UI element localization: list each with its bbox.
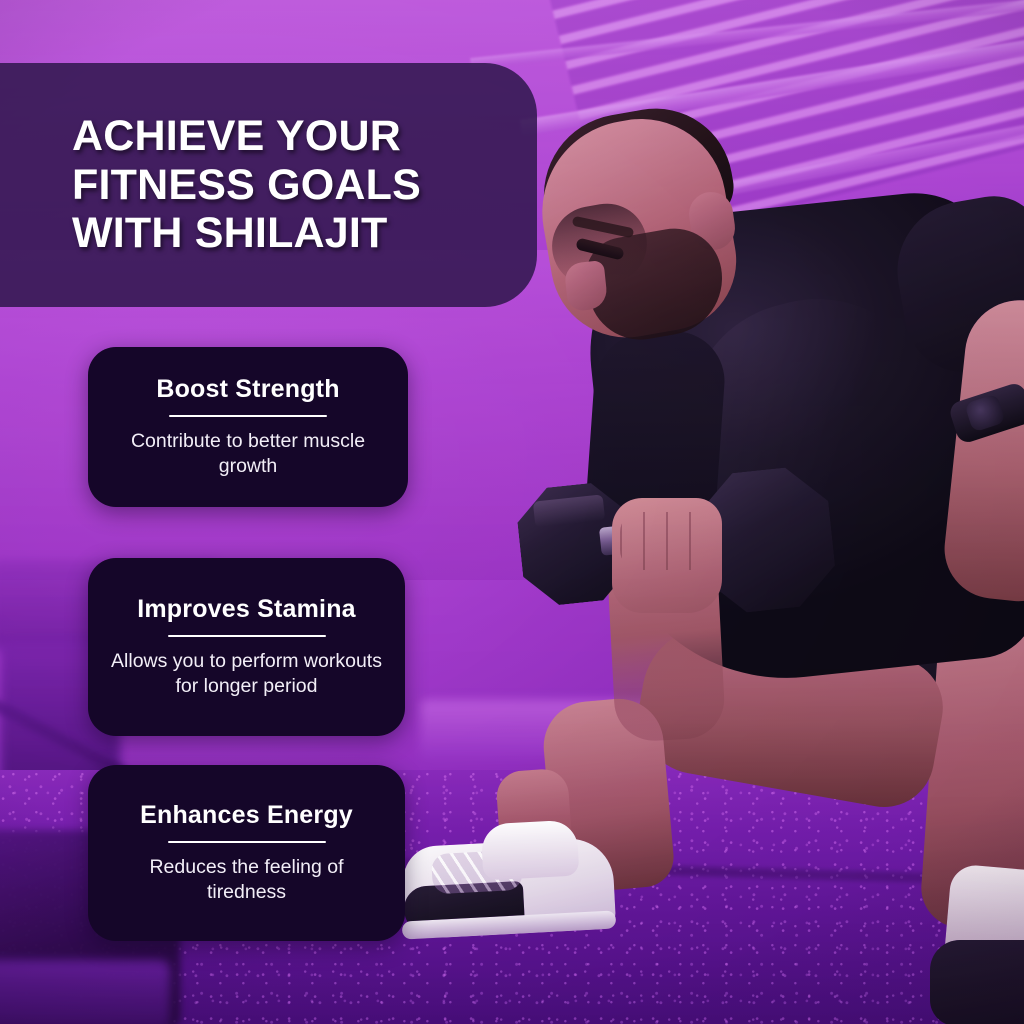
feature-card-boost-strength: Boost Strength Contribute to better musc…	[88, 347, 408, 507]
feature-title: Improves Stamina	[137, 595, 356, 624]
divider	[168, 635, 326, 637]
divider	[169, 415, 327, 417]
feature-title: Boost Strength	[156, 375, 339, 404]
feature-description: Reduces the feeling of tiredness	[110, 855, 383, 905]
feature-card-enhances-energy: Enhances Energy Reduces the feeling of t…	[88, 765, 405, 941]
divider	[168, 841, 326, 843]
headline-panel: ACHIEVE YOUR FITNESS GOALS WITH SHILAJIT	[0, 63, 537, 307]
fitness-infographic-poster: ACHIEVE YOUR FITNESS GOALS WITH SHILAJIT…	[0, 0, 1024, 1024]
feature-description: Contribute to better muscle growth	[110, 429, 386, 479]
feature-card-improves-stamina: Improves Stamina Allows you to perform w…	[88, 558, 405, 736]
feature-title: Enhances Energy	[140, 801, 353, 830]
page-title: ACHIEVE YOUR FITNESS GOALS WITH SHILAJIT	[72, 112, 511, 258]
feature-description: Allows you to perform workouts for longe…	[110, 649, 383, 699]
